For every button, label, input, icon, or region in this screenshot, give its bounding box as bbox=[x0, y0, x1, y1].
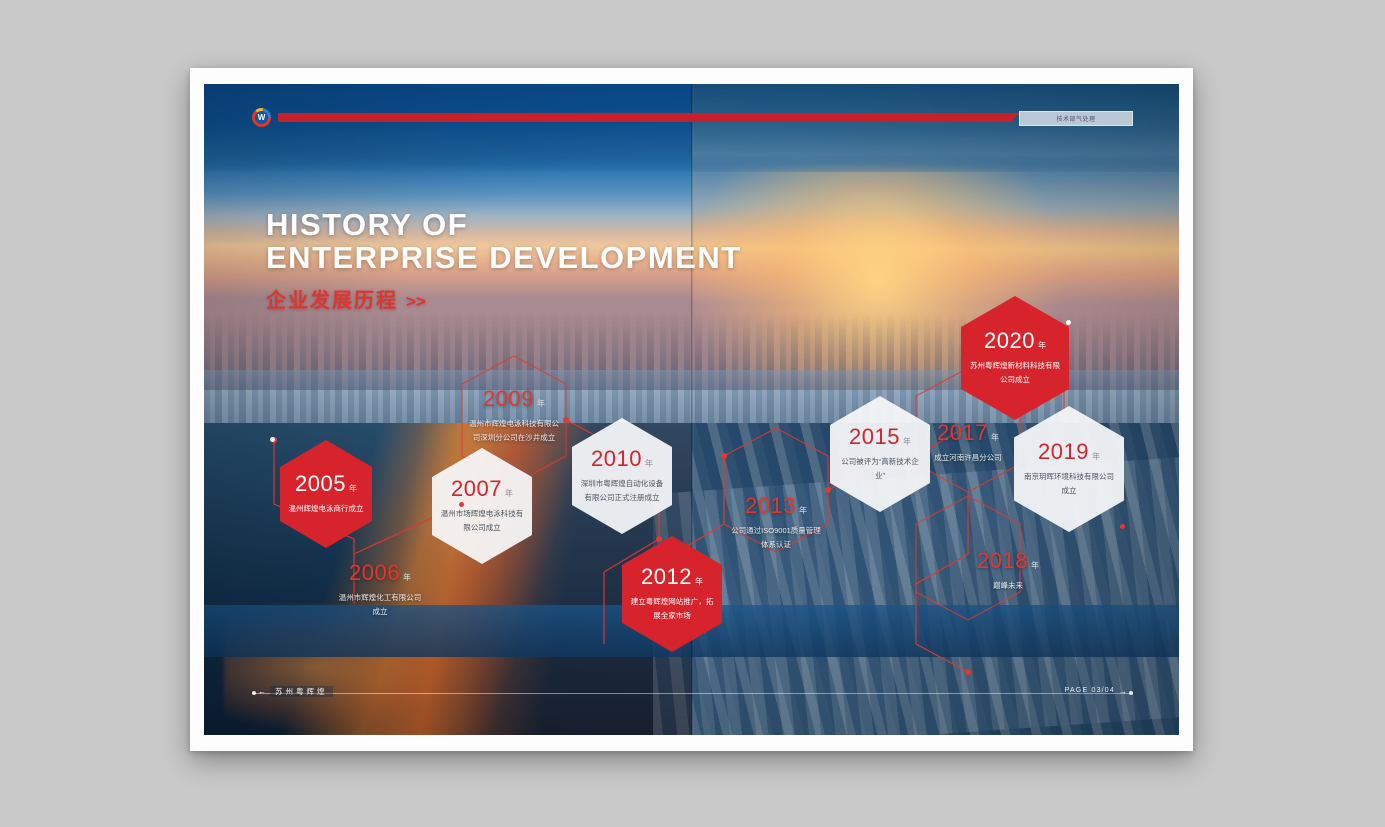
milestone-2009[interactable]: 2009 年 温州市辉煌电泳科技有限公司深圳分公司在沙井成立 bbox=[462, 356, 566, 476]
milestone-year-suffix: 年 bbox=[903, 438, 911, 446]
milestone-year: 2020 年 bbox=[984, 330, 1046, 352]
milestone-desc: 温州辉煌电泳商行成立 bbox=[289, 502, 364, 515]
milestone-desc: 温州市辉煌化工有限公司成立 bbox=[336, 591, 424, 617]
footer-rule bbox=[252, 693, 1133, 694]
footer-right-cap bbox=[1129, 691, 1133, 695]
milestone-year-suffix: 年 bbox=[645, 460, 653, 468]
milestone-year-value: 2009 bbox=[483, 388, 534, 410]
footer-left-arrow-icon: ← bbox=[258, 688, 266, 696]
milestone-year: 2018 年 bbox=[977, 550, 1039, 572]
milestone-2019-dot bbox=[1120, 524, 1125, 529]
milestone-year-suffix: 年 bbox=[799, 507, 807, 515]
milestone-year: 2005 年 bbox=[295, 473, 357, 495]
milestone-year-value: 2007 bbox=[451, 478, 502, 500]
timeline: 2005 年 温州辉煌电泳商行成立 2006 年 温州市辉煌化工有限公司成立 2… bbox=[204, 84, 1179, 735]
milestone-2018[interactable]: 2018 年 巅峰未来 bbox=[956, 512, 1060, 630]
milestone-desc: 南京玥晖环境科技有限公司成立 bbox=[1022, 470, 1117, 496]
milestone-year-value: 2018 bbox=[977, 550, 1028, 572]
milestone-2020-dot bbox=[1066, 320, 1071, 325]
milestone-2007-dot bbox=[459, 502, 464, 507]
milestone-2013[interactable]: 2013 年 公司通过ISO9001质量管理体系认证 bbox=[724, 464, 828, 582]
footer-left-label: 苏州粤辉煌 bbox=[270, 686, 333, 697]
milestone-desc: 公司被评为“高新技术企业” bbox=[837, 455, 923, 481]
milestone-year: 2007 年 bbox=[451, 478, 513, 500]
milestone-year-suffix: 年 bbox=[403, 574, 411, 582]
milestone-desc: 公司通过ISO9001质量管理体系认证 bbox=[728, 524, 824, 550]
page-footer: ← → 苏州粤辉煌 PAGE 03/04 bbox=[252, 687, 1133, 699]
milestone-year-suffix: 年 bbox=[991, 434, 999, 442]
milestone-year-value: 2017 bbox=[937, 422, 988, 444]
milestone-year: 2012 年 bbox=[641, 566, 703, 588]
footer-page-number: PAGE 03/04 bbox=[1065, 687, 1115, 694]
milestone-year-value: 2020 bbox=[984, 330, 1035, 352]
milestone-desc: 温州市场辉煌电泳科技有限公司成立 bbox=[439, 507, 525, 533]
milestone-year: 2009 年 bbox=[483, 388, 545, 410]
milestone-year-suffix: 年 bbox=[1038, 342, 1046, 350]
milestone-year-suffix: 年 bbox=[505, 490, 513, 498]
footer-right-arrow-icon: → bbox=[1119, 688, 1127, 696]
milestone-year-value: 2013 bbox=[745, 495, 796, 517]
milestone-year-value: 2012 bbox=[641, 566, 692, 588]
milestone-year: 2017 年 bbox=[937, 422, 999, 444]
milestone-year-value: 2015 bbox=[849, 426, 900, 448]
milestone-desc: 建立粤辉煌网站推广，拓展全家市场 bbox=[629, 595, 715, 621]
brochure-spread: W 技术部气处理 HISTORY OF ENTERPRISE DEVELOPME… bbox=[204, 84, 1179, 735]
milestone-year: 2019 年 bbox=[1038, 441, 1100, 463]
milestone-year-value: 2006 bbox=[349, 562, 400, 584]
milestone-year: 2013 年 bbox=[745, 495, 807, 517]
milestone-year-suffix: 年 bbox=[1092, 453, 1100, 461]
milestone-year-value: 2010 bbox=[591, 448, 642, 470]
milestone-year: 2006 年 bbox=[349, 562, 411, 584]
milestone-year: 2015 年 bbox=[849, 426, 911, 448]
milestone-year-suffix: 年 bbox=[349, 485, 357, 493]
milestone-desc: 成立河南许昌分公司 bbox=[934, 451, 1002, 464]
milestone-year-suffix: 年 bbox=[1031, 562, 1039, 570]
milestone-desc: 苏州粤辉煌新材料科技有限公司成立 bbox=[969, 359, 1062, 385]
milestone-desc: 深圳市粤辉煌自动化设备有限公司正式注册成立 bbox=[579, 477, 665, 503]
milestone-year: 2010 年 bbox=[591, 448, 653, 470]
screenshot-root: W 技术部气处理 HISTORY OF ENTERPRISE DEVELOPME… bbox=[0, 0, 1385, 827]
milestone-year-suffix: 年 bbox=[537, 400, 545, 408]
milestone-year-value: 2005 bbox=[295, 473, 346, 495]
milestone-2005-dot bbox=[270, 437, 275, 442]
milestone-desc: 温州市辉煌电泳科技有限公司深圳分公司在沙井成立 bbox=[466, 417, 562, 443]
milestone-desc: 巅峰未来 bbox=[993, 579, 1023, 592]
milestone-year-suffix: 年 bbox=[695, 578, 703, 586]
milestone-year-value: 2019 bbox=[1038, 441, 1089, 463]
footer-left-cap bbox=[252, 691, 256, 695]
milestone-2006[interactable]: 2006 年 温州市辉煌化工有限公司成立 bbox=[332, 536, 428, 644]
